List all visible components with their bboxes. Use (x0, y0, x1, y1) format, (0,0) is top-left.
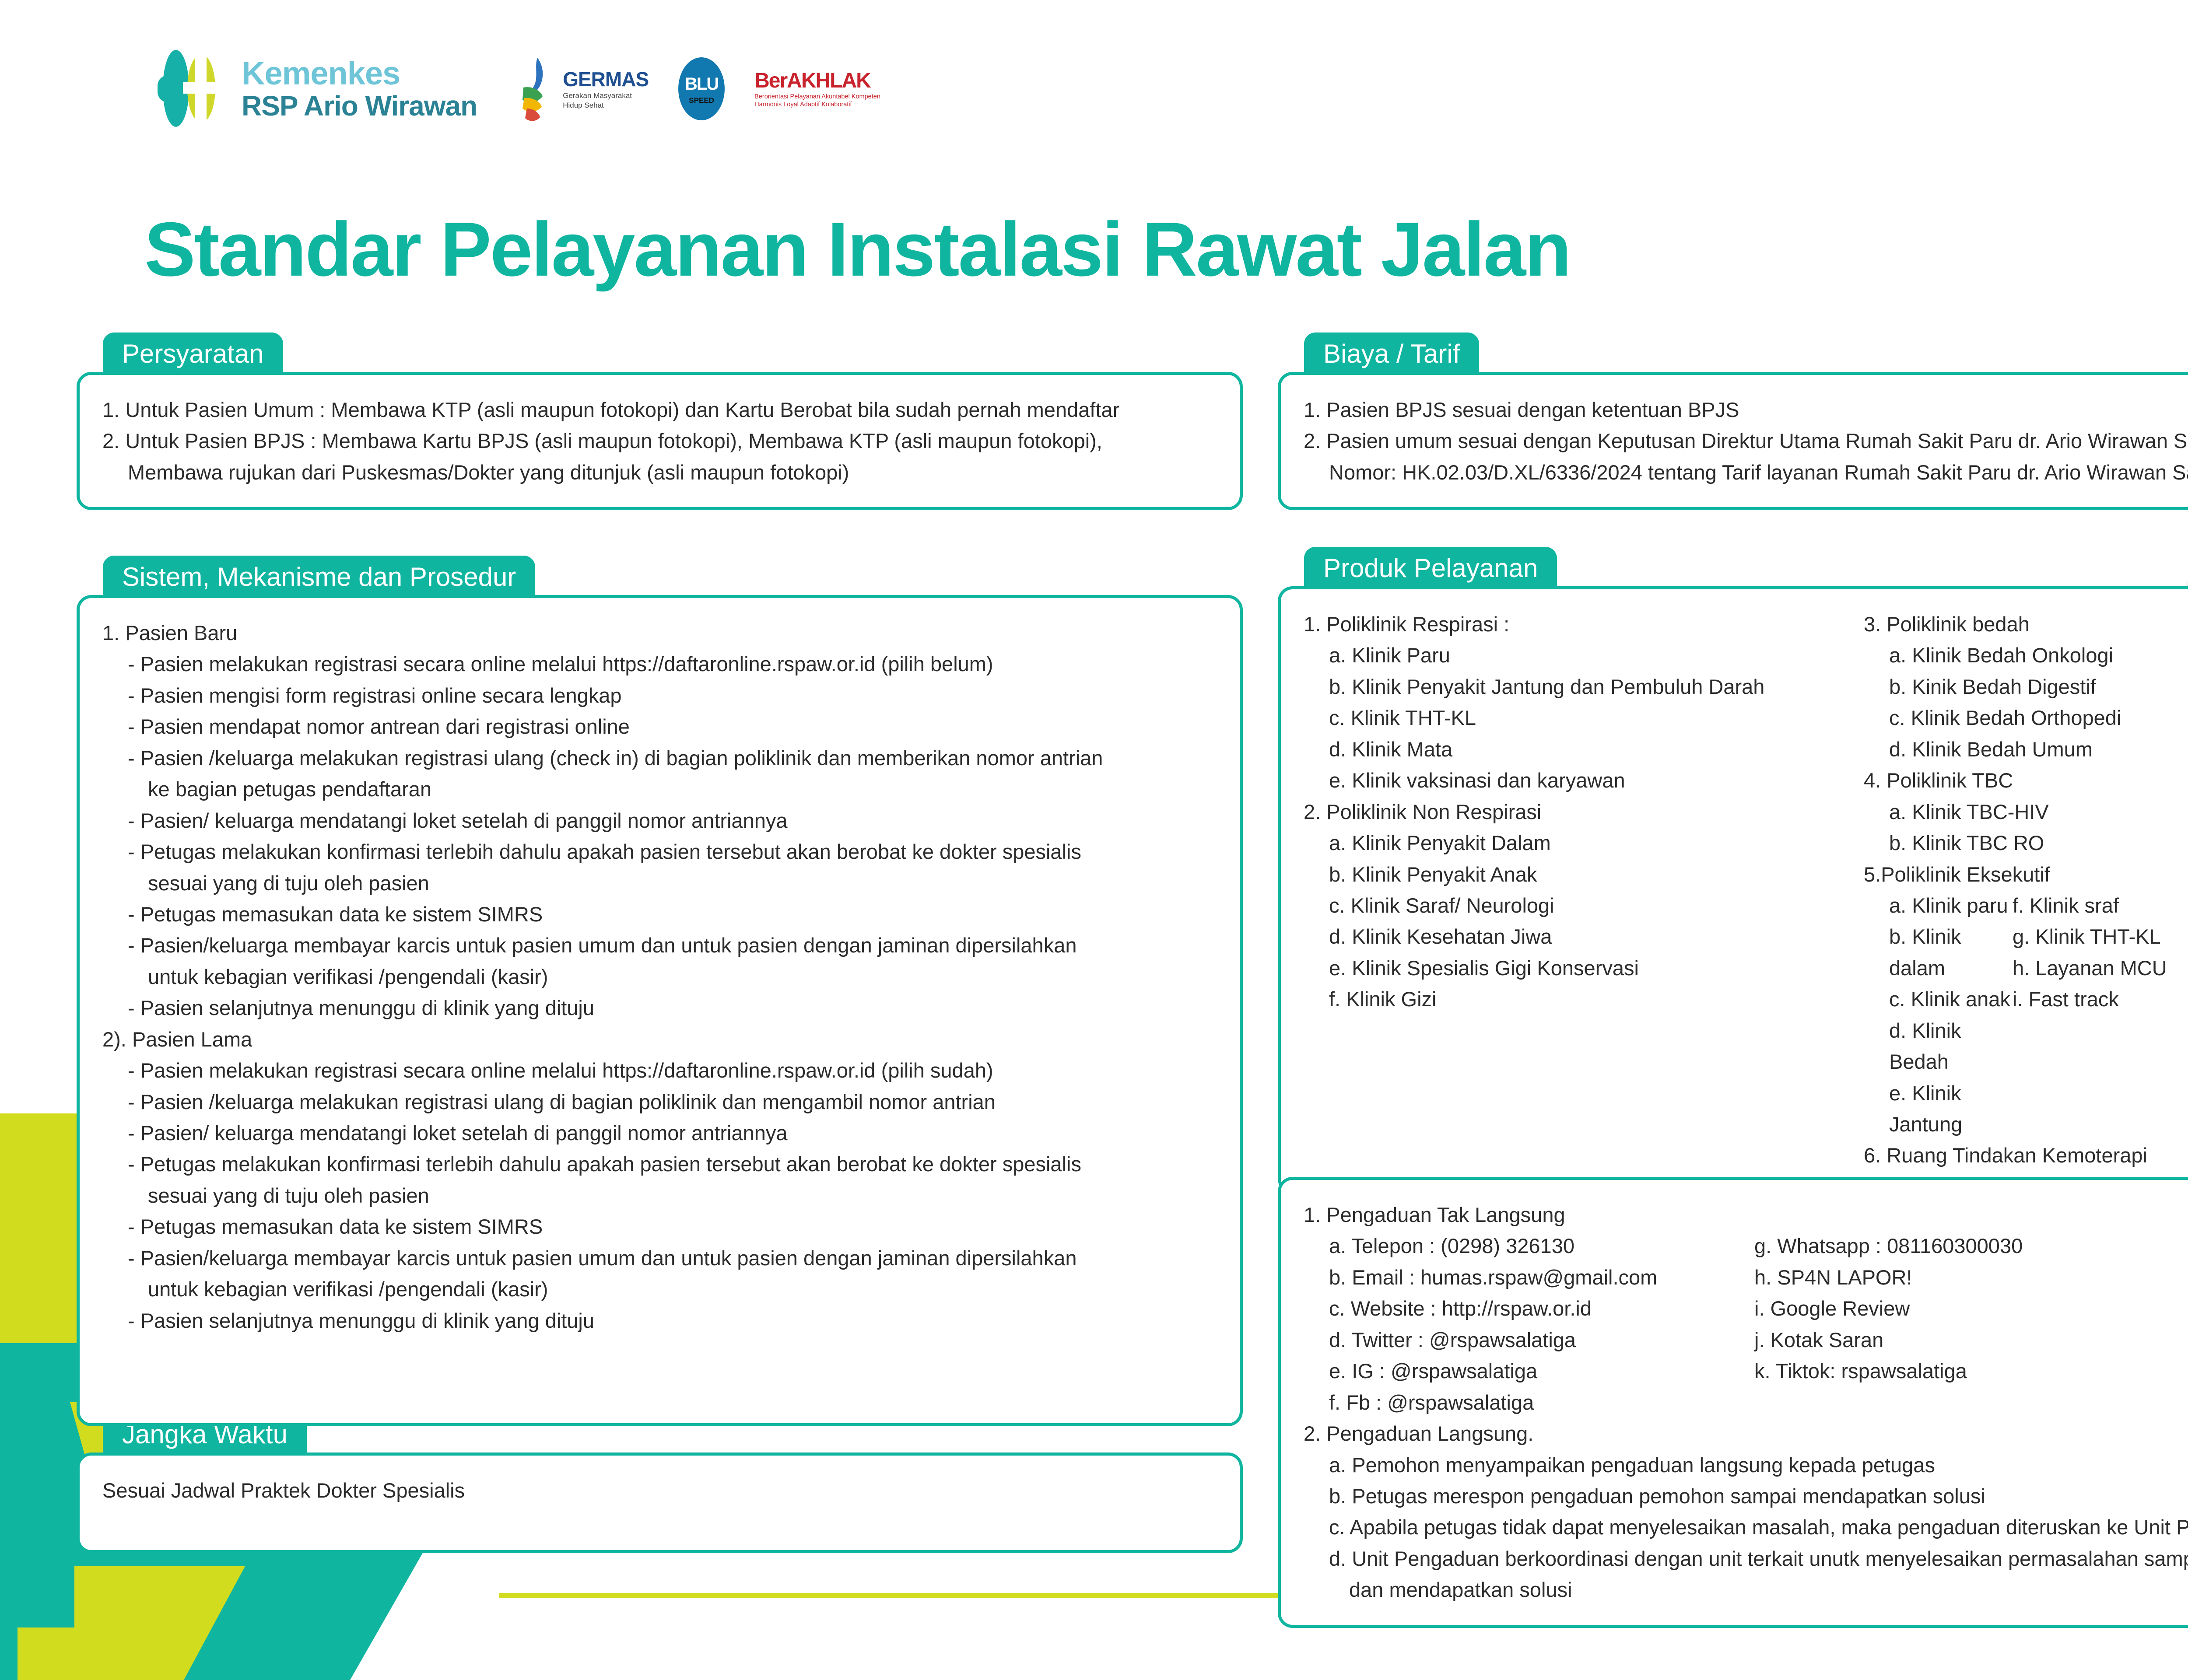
poster-page: Kemenkes RSP Ario Wirawan GERMAS Gerakan… (0, 0, 2188, 1680)
tab-biaya-tarif: Biaya / Tarif (1304, 332, 1479, 378)
list-item: d. Klinik Kesehatan Jiwa (1304, 921, 1864, 952)
blu-sub: SPEED (677, 96, 726, 105)
list-item: c. Klinik Bedah Orthopedi (1864, 702, 2188, 733)
list-item: c. Website : http://rspaw.or.id (1304, 1293, 1754, 1324)
list-item: - Pasien/ keluarga mendatangi loket sete… (102, 1117, 1217, 1148)
list-item: 2. Poliklinik Non Respirasi (1304, 796, 1864, 827)
section-biaya-tarif: Biaya / Tarif 1. Pasien BPJS sesuai deng… (1278, 332, 2188, 510)
eksekutif-column-2: f. Klinik srafg. Klinik THT-KLh. Layanan… (2013, 890, 2167, 1140)
list-item: a. Telepon : (0298) 326130 (1304, 1230, 1754, 1261)
list-item: k. Tiktok: rspawsalatiga (1754, 1355, 2148, 1386)
list-item: 1. Untuk Pasien Umum : Membawa KTP (asli… (102, 394, 1217, 425)
berakhlak-title: BerAKHLAK (754, 69, 880, 93)
kemenkes-symbol-icon (158, 48, 223, 129)
pengaduan-column-1: a. Telepon : (0298) 326130b. Email : hum… (1304, 1230, 1754, 1418)
blu-logo: BLU SPEED (677, 56, 726, 122)
persyaratan-body: 1. Untuk Pasien Umum : Membawa KTP (asli… (77, 372, 1243, 510)
list-item: b. Klinik Penyakit Anak (1304, 859, 1864, 890)
berakhlak-sub2: Harmonis Loyal Adaptif Kolaboratif (754, 101, 880, 108)
kemenkes-wordmark: Kemenkes RSP Ario Wirawan (242, 56, 477, 121)
list-item: dan mendapatkan solusi (1304, 1574, 2188, 1605)
section-persyaratan: Persyaratan 1. Untuk Pasien Umum : Memba… (77, 332, 1243, 510)
section-prosedur: Sistem, Mekanisme dan Prosedur 1. Pasien… (77, 556, 1243, 1426)
list-item: - Pasien /keluarga melakukan registrasi … (102, 1086, 1217, 1117)
list-item: untuk kebagian verifikasi /pengendali (k… (102, 961, 1217, 992)
persyaratan-lines: 1. Untuk Pasien Umum : Membawa KTP (asli… (102, 394, 1217, 488)
list-item: - Pasien selanjutnya menunggu di klinik … (102, 1305, 1217, 1336)
list-item: untuk kebagian verifikasi /pengendali (k… (102, 1274, 1217, 1305)
biaya-lines: 1. Pasien BPJS sesuai dengan ketentuan B… (1304, 394, 2188, 488)
produk-footer: 6. Ruang Tindakan Kemoterapi (1864, 1140, 2188, 1171)
list-item: sesuai yang di tuju oleh pasien (102, 868, 1217, 899)
produk-right-list: 3. Poliklinik bedaha. Klinik Bedah Onkol… (1864, 609, 2188, 890)
list-item: f. Klinik sraf (2013, 890, 2167, 921)
list-item: 2). Pasien Lama (102, 1024, 1217, 1055)
tab-produk-pelayanan: Produk Pelayanan (1304, 547, 1557, 592)
pengaduan-body: 1. Pengaduan Tak Langsung a. Telepon : (… (1278, 1177, 2188, 1628)
tab-prosedur: Sistem, Mekanisme dan Prosedur (103, 556, 535, 601)
list-item: - Pasien selanjutnya menunggu di klinik … (102, 992, 1217, 1023)
list-item: c. Klinik THT-KL (1304, 702, 1864, 733)
germas-figure-icon (516, 56, 556, 122)
prosedur-lines: 1. Pasien Baru- Pasien melakukan registr… (102, 617, 1217, 1336)
jangka-body: Sesuai Jadwal Praktek Dokter Spesialis (77, 1452, 1243, 1553)
prosedur-body: 1. Pasien Baru- Pasien melakukan registr… (77, 595, 1243, 1426)
pengaduan-head1: 1. Pengaduan Tak Langsung (1304, 1199, 2188, 1230)
produk-body: 1. Poliklinik Respirasi :a. Klinik Parub… (1278, 586, 2188, 1193)
list-item: j. Kotak Saran (1754, 1324, 2148, 1355)
list-item: - Pasien mengisi form registrasi online … (102, 680, 1217, 711)
pengaduan-head2: 2. Pengaduan Langsung. (1304, 1418, 2188, 1449)
produk-right-column: 3. Poliklinik bedaha. Klinik Bedah Onkol… (1864, 609, 2188, 1171)
list-item: i. Fast track (2013, 983, 2167, 1015)
list-item: a. Klinik Bedah Onkologi (1864, 640, 2188, 671)
kemenkes-line2: RSP Ario Wirawan (242, 91, 477, 121)
list-item: ke bagian petugas pendaftaran (102, 773, 1217, 805)
header-logos: Kemenkes RSP Ario Wirawan GERMAS Gerakan… (158, 48, 880, 129)
list-item: g. Whatsapp : 081160300030 (1754, 1230, 2148, 1261)
eksekutif-columns: a. Klinik parub. Klinik dalamc. Klinik a… (1864, 890, 2188, 1140)
list-item: - Pasien melakukan registrasi secara onl… (102, 1055, 1217, 1086)
list-item: d. Klinik Mata (1304, 734, 1864, 765)
list-item: b. Klinik Penyakit Jantung dan Pembuluh … (1304, 671, 1864, 702)
list-item: a. Klinik paru (1864, 890, 2013, 921)
list-item: 1. Poliklinik Respirasi : (1304, 609, 1864, 640)
bottom-yellow-band (0, 1566, 306, 1680)
eksekutif-column-1: a. Klinik parub. Klinik dalamc. Klinik a… (1864, 890, 2013, 1140)
blu-title: BLU (677, 74, 726, 94)
list-item: 1. Pasien Baru (102, 617, 1217, 648)
germas-sub2: Hidup Sehat (563, 101, 649, 110)
list-item: e. Klinik vaksinasi dan karyawan (1304, 765, 1864, 796)
list-item: a. Pemohon menyampaikan pengaduan langsu… (1304, 1449, 2188, 1480)
list-item: c. Klinik anak (1864, 983, 2013, 1015)
list-item: - Pasien melakukan registrasi secara onl… (102, 648, 1217, 679)
list-item: c. Apabila petugas tidak dapat menyelesa… (1304, 1512, 2188, 1543)
list-item: e. Klinik Spesialis Gigi Konservasi (1304, 952, 1864, 983)
list-item: b. Petugas merespon pengaduan pemohon sa… (1304, 1480, 2188, 1512)
list-item: b. Email : humas.rspaw@gmail.com (1304, 1262, 1754, 1293)
list-item: 4. Poliklinik TBC (1864, 765, 2188, 796)
list-item: b. Kinik Bedah Digestif (1864, 671, 2188, 702)
list-item: e. IG : @rspawsalatiga (1304, 1355, 1754, 1386)
pengaduan-columns: a. Telepon : (0298) 326130b. Email : hum… (1304, 1230, 2188, 1418)
germas-sub1: Gerakan Masyarakat (563, 91, 649, 100)
list-item: a. Klinik TBC-HIV (1864, 796, 2188, 827)
list-item: d. Klinik Bedah Umum (1864, 734, 2188, 765)
partner-logos: GERMAS Gerakan Masyarakat Hidup Sehat BL… (516, 56, 880, 122)
list-item: - Pasien/keluarga membayar karcis untuk … (102, 1242, 1217, 1274)
list-item: - Petugas melakukan konfirmasi terlebih … (102, 836, 1217, 867)
list-item: d. Twitter : @rspawsalatiga (1304, 1324, 1754, 1355)
berakhlak-sub1: Berorientasi Pelayanan Akuntabel Kompete… (754, 93, 880, 101)
produk-columns: 1. Poliklinik Respirasi :a. Klinik Parub… (1304, 609, 2188, 1171)
list-item: g. Klinik THT-KL (2013, 921, 2167, 952)
list-item: 1. Pasien BPJS sesuai dengan ketentuan B… (1304, 394, 2188, 425)
list-item: - Pasien/ keluarga mendatangi loket sete… (102, 805, 1217, 836)
list-item: h. Layanan MCU (2013, 952, 2167, 983)
section-pengaduan: Penanganan pengaduan, saran dan masukan … (1278, 1137, 2188, 1628)
list-item: - Pasien mendapat nomor antrean dari reg… (102, 711, 1217, 742)
list-item: c. Klinik Saraf/ Neurologi (1304, 890, 1864, 921)
list-item: f. Klinik Gizi (1304, 983, 1864, 1015)
section-produk-pelayanan: Produk Pelayanan 1. Poliklinik Respirasi… (1278, 547, 2188, 1193)
list-item: d. Klinik Bedah (1864, 1015, 2013, 1078)
kemenkes-logo: Kemenkes RSP Ario Wirawan (158, 48, 477, 129)
biaya-body: 1. Pasien BPJS sesuai dengan ketentuan B… (1278, 372, 2188, 510)
list-item: Nomor: HK.02.03/D.XL/6336/2024 tentang T… (1304, 457, 2188, 488)
list-item: 5.Poliklinik Eksekutif (1864, 859, 2188, 890)
list-item: f. Fb : @rspawsalatiga (1304, 1387, 1754, 1418)
list-item: - Petugas memasukan data ke sistem SIMRS (102, 1211, 1217, 1242)
section-jangka-waktu: Jangka Waktu Sesuai Jadwal Praktek Dokte… (77, 1413, 1243, 1553)
list-item: - Petugas melakukan konfirmasi terlebih … (102, 1148, 1217, 1179)
list-item: 2. Untuk Pasien BPJS : Membawa Kartu BPJ… (102, 425, 1217, 456)
page-title: Standar Pelayanan Instalasi Rawat Jalan (144, 206, 1570, 294)
germas-title: GERMAS (563, 67, 649, 91)
list-item: Membawa rujukan dari Puskesmas/Dokter ya… (102, 457, 1217, 488)
jangka-line: Sesuai Jadwal Praktek Dokter Spesialis (102, 1475, 1217, 1506)
list-item: - Pasien /keluarga melakukan registrasi … (102, 742, 1217, 773)
pengaduan-column-2: g. Whatsapp : 081160300030h. SP4N LAPOR!… (1754, 1230, 2148, 1418)
list-item: d. Unit Pengaduan berkoordinasi dengan u… (1304, 1543, 2188, 1574)
list-item: h. SP4N LAPOR! (1754, 1262, 2148, 1293)
list-item: i. Google Review (1754, 1293, 2148, 1324)
list-item: - Pasien/keluarga membayar karcis untuk … (102, 930, 1217, 961)
list-item: 2. Pasien umum sesuai dengan Keputusan D… (1304, 425, 2188, 456)
berakhlak-logo: BerAKHLAK Berorientasi Pelayanan Akuntab… (754, 69, 880, 108)
list-item: sesuai yang di tuju oleh pasien (102, 1180, 1217, 1211)
list-item: e. Klinik Jantung (1864, 1078, 2013, 1140)
list-item: - Petugas memasukan data ke sistem SIMRS (102, 899, 1217, 930)
list-item: b. Klinik TBC RO (1864, 827, 2188, 858)
pengaduan-langsung-items: a. Pemohon menyampaikan pengaduan langsu… (1304, 1449, 2188, 1606)
germas-logo: GERMAS Gerakan Masyarakat Hidup Sehat (516, 56, 649, 122)
kemenkes-line1: Kemenkes (242, 56, 477, 91)
produk-left-column: 1. Poliklinik Respirasi :a. Klinik Parub… (1304, 609, 1864, 1171)
list-item: 3. Poliklinik bedah (1864, 609, 2188, 640)
list-item: a. Klinik Paru (1304, 640, 1864, 671)
list-item: b. Klinik dalam (1864, 921, 2013, 983)
list-item: a. Klinik Penyakit Dalam (1304, 827, 1864, 858)
tab-persyaratan: Persyaratan (103, 332, 283, 378)
